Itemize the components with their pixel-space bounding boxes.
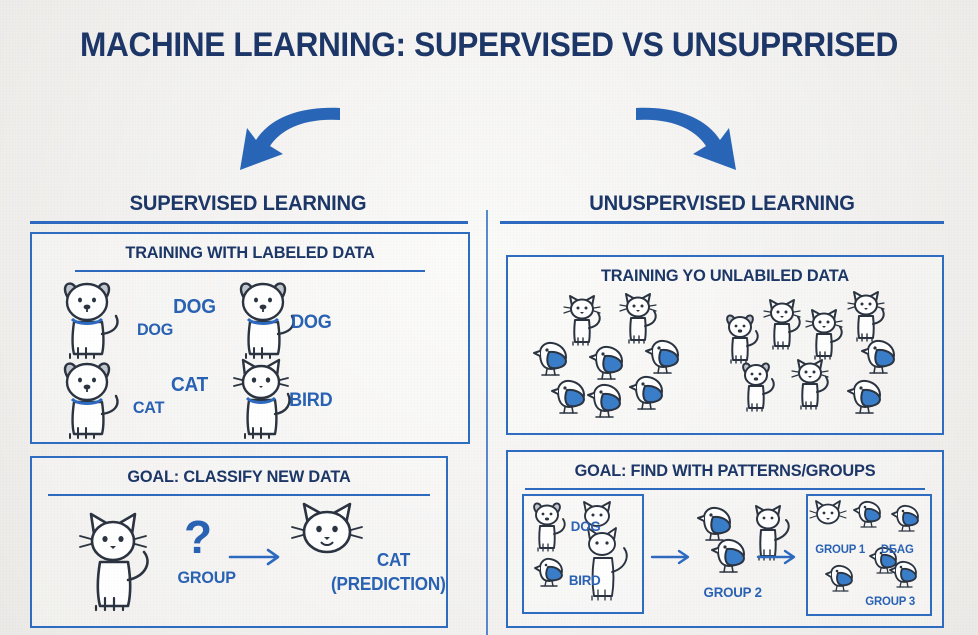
label-group-3: GROUP 3 <box>865 594 915 608</box>
heading-rule-left <box>30 221 468 224</box>
panel-goal-classify-new-data: GOAL: CLASSIFY NEW DATA ? GRO <box>30 456 448 628</box>
dog-illustration <box>54 358 128 442</box>
panel-title-goal-patterns: GOAL: FIND WITH PATTERNS/GROUPS <box>517 452 934 481</box>
panel-title-training-unlabeled: TRAINING YO UNLABILED DATA <box>517 257 934 286</box>
heading-rule-right <box>500 221 944 224</box>
column-heading-unsupervised: UNUSPERVISED LEARNING <box>509 192 935 216</box>
label-cat-1: CAT <box>133 398 164 418</box>
panel-training-unlabeled-data: TRAINING YO UNLABILED DATA <box>506 255 944 435</box>
panel-title-goal-classify: GOAL: CLASSIFY NEW DATA <box>40 458 437 487</box>
label-cat-2: CAT <box>171 374 208 397</box>
label-garbled: DƂAG <box>881 542 914 556</box>
cat-head-illustration <box>290 500 368 566</box>
label-prediction-note: (PREDICTION) <box>331 574 446 595</box>
column-heading-supervised: SUPERVISED LEARNING <box>37 192 459 216</box>
label-dog-1: DOG <box>137 320 173 340</box>
cat-illustration-input <box>76 510 168 616</box>
label-mixed-dog: DOG <box>571 518 601 534</box>
label-group-1: GROUP 1 <box>815 542 865 556</box>
column-divider <box>486 210 488 635</box>
panel-rule <box>48 494 430 496</box>
panel-goal-find-patterns: GOAL: FIND WITH PATTERNS/GROUPS <box>506 450 944 628</box>
grouped-result-box: GROUP 1 DƂAG GROUP 3 <box>806 494 932 616</box>
label-dog-3: DOG <box>291 312 332 334</box>
dog-illustration <box>54 278 128 362</box>
mixed-data-box: DOG BIRD <box>522 494 644 614</box>
arrow-right-icon <box>756 548 802 566</box>
label-mixed-bird: BIRD <box>569 572 601 588</box>
arrow-right-icon <box>650 548 696 566</box>
panel-rule <box>75 270 425 272</box>
label-dog-2: DOG <box>173 296 216 319</box>
label-bird: BIRD <box>289 390 332 412</box>
question-mark-icon: ? <box>184 514 212 560</box>
infographic-page: MACHINE LEARNING: SUPERVISED VS UNSUPRRI… <box>0 0 978 635</box>
label-group: GROUP <box>178 568 236 588</box>
label-group-2: GROUP 2 <box>704 584 762 600</box>
panel-rule <box>525 488 925 490</box>
arrow-group <box>0 88 978 168</box>
arrow-right-icon <box>228 546 288 568</box>
label-prediction-value: CAT <box>377 550 410 571</box>
curved-arrow-down-right-icon <box>636 108 736 170</box>
curved-arrow-down-left-icon <box>240 108 340 170</box>
page-title: MACHINE LEARNING: SUPERVISED VS UNSUPRRI… <box>34 26 944 65</box>
panel-title-training-labeled: TRAINING WITH LABELED DATA <box>41 234 460 263</box>
panel-training-labeled-data: TRAINING WITH LABELED DATA DOG <box>30 232 470 444</box>
unlabeled-animal-cluster <box>508 291 946 437</box>
